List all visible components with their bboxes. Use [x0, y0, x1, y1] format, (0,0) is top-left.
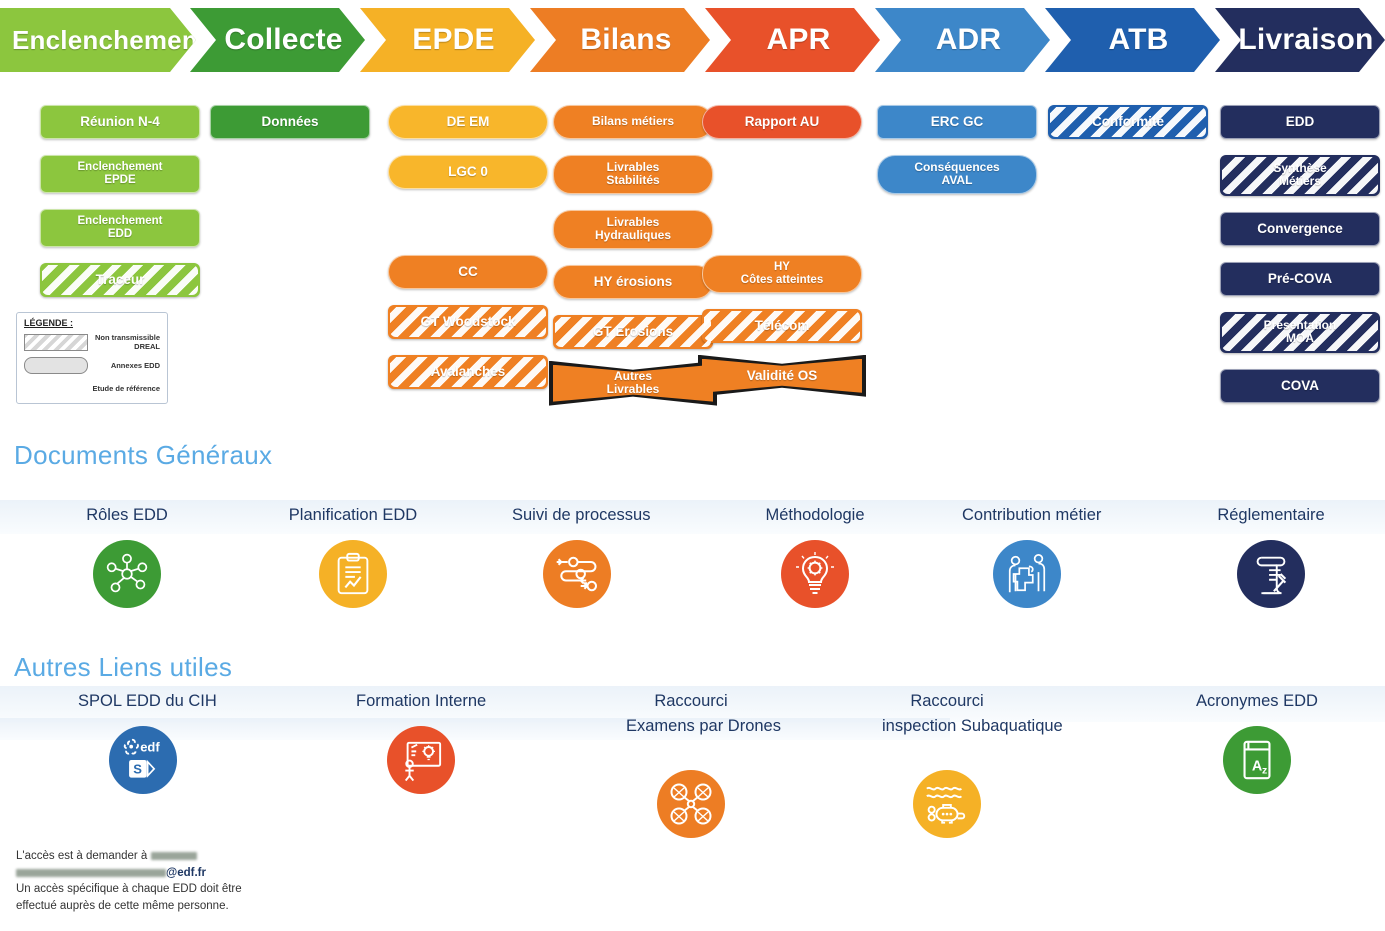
node-label: Rapport AU [745, 114, 820, 129]
tile-caption: SPOL EDD du CIH [78, 691, 208, 712]
node-label: PrésentationMOA [1264, 319, 1337, 346]
node-label: EnclenchementEPDE [78, 161, 163, 187]
section-heading-documents-generaux: Documents Généraux [14, 440, 272, 471]
node-label: Données [261, 114, 318, 129]
legend-row: Annexes EDD [24, 355, 160, 375]
redacted-name [151, 852, 197, 860]
node-bilans-m-tiers[interactable]: Bilans métiers [553, 105, 713, 139]
process-step-label: ADR [875, 23, 1050, 57]
scroll-gavel-icon[interactable] [1237, 540, 1305, 608]
node-column-bilans: Bilans métiersLivrablesStabilitésLivrabl… [553, 105, 713, 418]
tile-caption: Raccourci [626, 691, 756, 712]
node-de-em[interactable]: DE EM [388, 105, 548, 139]
legend-swatch-pill [24, 357, 88, 374]
documents-generaux-tile-r-glementaire[interactable]: Réglementaire [1206, 505, 1336, 608]
process-step-livraison[interactable]: Livraison [1215, 8, 1385, 72]
node-pr-cova[interactable]: Pré-COVA [1220, 262, 1380, 296]
process-step-enclenchement[interactable]: Enclenchement [0, 8, 196, 72]
autres-liens-tile-raccourci[interactable]: RaccourciExamens par Drones [626, 691, 756, 838]
documents-generaux-tile-suivi-de-processus[interactable]: Suivi de processus [512, 505, 642, 608]
node-label: AutresLivrables [607, 370, 660, 397]
process-step-label: Bilans [530, 23, 710, 57]
node-hy-c-tes-atteintes[interactable]: HYCôtes atteintes [702, 255, 862, 293]
node-concave-wrapper: AutresLivrables [553, 365, 713, 402]
node-label: HYCôtes atteintes [741, 261, 823, 287]
node-label: ConséquencesAVAL [914, 161, 999, 188]
node-label: EnclenchementEDD [78, 215, 163, 241]
tile-caption-line2: Examens par Drones [626, 716, 756, 737]
node-pr-sentation-moa[interactable]: PrésentationMOA [1220, 312, 1380, 353]
node-label: LivrablesHydrauliques [595, 216, 671, 243]
process-step-label: APR [705, 23, 880, 57]
node-synth-se-m-tiers[interactable]: SynthèseMétiers [1220, 155, 1380, 196]
node-label: Pré-COVA [1268, 271, 1332, 286]
node-enclenchement-epde[interactable]: EnclenchementEPDE [40, 155, 200, 193]
tile-caption: Réglementaire [1206, 505, 1336, 526]
submarine-icon[interactable] [913, 770, 981, 838]
node-traceur[interactable]: Traceur [40, 263, 200, 297]
process-step-label: ATB [1045, 23, 1220, 57]
legend-row: Non transmissible DREAL [24, 332, 160, 352]
drone-icon[interactable] [657, 770, 725, 838]
node-label: Avalanches [431, 364, 506, 379]
node-spacer [388, 205, 548, 239]
node-label: Bilans métiers [592, 115, 674, 128]
autres-liens-tile-spol-edd-du-cih[interactable]: SPOL EDD du CIHedfS [78, 691, 208, 794]
node-cova[interactable]: COVA [1220, 369, 1380, 403]
node-label: Validité OS [747, 368, 818, 383]
node-label: GT Erosions [593, 324, 673, 339]
node-label: Conformité [1092, 114, 1164, 129]
legend-swatch-hatch [24, 334, 88, 351]
legend-caption: Non transmissible DREAL [88, 333, 160, 351]
documents-generaux-tile-contribution-m-tier[interactable]: Contribution métier [962, 505, 1092, 608]
footer-line-1-text: L'accès est à demander à [16, 850, 151, 862]
tile-caption: Méthodologie [750, 505, 880, 526]
footer-email-domain: @edf.fr [166, 867, 206, 879]
node-concave-wrapper: Validité OS [702, 359, 862, 393]
node-spacer [702, 155, 862, 239]
documents-generaux-tile-planification-edd[interactable]: Planification EDD [288, 505, 418, 608]
node-label: LGC 0 [448, 164, 488, 179]
footer-line-2: @edf.fr [16, 865, 316, 882]
background-band-1 [0, 500, 1385, 534]
svg-text:S: S [133, 761, 142, 776]
node-label: Convergence [1257, 221, 1343, 236]
node-label: ERC GC [931, 114, 984, 129]
node-column-collecte: Données [210, 105, 370, 155]
node-column-adr: ERC GCConséquencesAVAL [877, 105, 1037, 210]
node-label: EDD [1286, 114, 1315, 129]
node-label: DE EM [447, 114, 490, 129]
svg-text:edf: edf [140, 739, 160, 754]
tile-caption: Acronymes EDD [1192, 691, 1322, 712]
node-label: Traceur [96, 272, 145, 287]
node-avalanches[interactable]: Avalanches [388, 355, 548, 389]
process-step-label: Livraison [1215, 23, 1385, 57]
process-step-apr[interactable]: APR [705, 8, 880, 72]
process-step-collecte[interactable]: Collecte [190, 8, 365, 72]
tile-caption: Contribution métier [962, 505, 1092, 526]
node-column-epde: DE EMLGC 0CCGT WoodstockAvalanches [388, 105, 548, 405]
autres-liens-tile-formation-interne[interactable]: Formation Interne [356, 691, 486, 794]
node-r-union-n-4[interactable]: Réunion N-4 [40, 105, 200, 139]
process-step-label: Enclenchement [0, 25, 207, 56]
node-cons-quences-aval[interactable]: ConséquencesAVAL [877, 155, 1037, 194]
node-column-apr: Rapport AUHYCôtes atteintesTélécomValidi… [702, 105, 862, 409]
autres-liens-tile-raccourci[interactable]: Raccourciinspection Subaquatique [882, 691, 1012, 838]
process-step-label: EPDE [360, 23, 535, 57]
documents-generaux-tile-r-les-edd[interactable]: Rôles EDD [62, 505, 192, 608]
node-rapport-au[interactable]: Rapport AU [702, 105, 862, 139]
process-step-epde[interactable]: EPDE [360, 8, 535, 72]
footer-line-4: effectué auprès de cette même personne. [16, 898, 316, 915]
section-heading-autres-liens: Autres Liens utiles [14, 652, 232, 683]
tile-caption: Formation Interne [356, 691, 486, 712]
node-enclenchement-edd[interactable]: EnclenchementEDD [40, 209, 200, 247]
node-label: COVA [1281, 378, 1319, 393]
node-label: CC [458, 264, 478, 279]
process-flow-icon[interactable] [543, 540, 611, 608]
node-livrables-stabilit-s[interactable]: LivrablesStabilités [553, 155, 713, 194]
node-erc-gc[interactable]: ERC GC [877, 105, 1037, 139]
network-people-icon[interactable] [93, 540, 161, 608]
node-convergence[interactable]: Convergence [1220, 212, 1380, 246]
node-label: GT Woodstock [420, 314, 515, 329]
lightbulb-gear-icon[interactable] [781, 540, 849, 608]
node-livrables-hydrauliques[interactable]: LivrablesHydrauliques [553, 210, 713, 249]
legend-row: Etude de référence [24, 378, 160, 398]
node-lgc-0[interactable]: LGC 0 [388, 155, 548, 189]
documents-generaux-tile-m-thodologie[interactable]: Méthodologie [750, 505, 880, 608]
clipboard-chart-icon[interactable] [319, 540, 387, 608]
legend-caption: Etude de référence [86, 384, 160, 393]
footer-line-1: L'accès est à demander à [16, 848, 316, 865]
node-gt-woodstock[interactable]: GT Woodstock [388, 305, 548, 339]
legend-caption: Annexes EDD [88, 361, 160, 370]
autres-liens-tile-acronymes-edd[interactable]: Acronymes EDDAz [1192, 691, 1322, 794]
footer-note: L'accès est à demander à @edf.fr Un accè… [16, 848, 316, 915]
node-label: SynthèseMétiers [1273, 162, 1326, 189]
legend-box: LÉGENDE : Non transmissible DREALAnnexes… [16, 312, 168, 404]
process-step-label: Collecte [190, 23, 365, 57]
footer-line-3: Un accès spécifique à chaque EDD doit êt… [16, 881, 316, 898]
process-step-adr[interactable]: ADR [875, 8, 1050, 72]
people-puzzle-icon[interactable] [993, 540, 1061, 608]
node-t-l-com[interactable]: Télécom [702, 309, 862, 343]
node-column-enclenchement: Réunion N-4EnclenchementEPDEEnclenchemen… [40, 105, 200, 313]
node-column-atb: Conformité [1048, 105, 1208, 155]
node-label: HY érosions [594, 274, 673, 289]
node-label: LivrablesStabilités [606, 161, 659, 188]
node-conformit[interactable]: Conformité [1048, 105, 1208, 139]
tile-caption-line2: inspection Subaquatique [882, 716, 1012, 737]
legend-swatch-concave [24, 381, 86, 396]
node-gt-erosions[interactable]: GT Erosions [553, 315, 713, 349]
process-step-bilans[interactable]: Bilans [530, 8, 710, 72]
node-cc[interactable]: CC [388, 255, 548, 289]
node-label: Réunion N-4 [80, 114, 160, 129]
tile-caption: Suivi de processus [512, 505, 642, 526]
training-board-icon[interactable] [387, 726, 455, 794]
node-hy-rosions[interactable]: HY érosions [553, 265, 713, 299]
svg-text:z: z [1262, 764, 1267, 776]
node-edd[interactable]: EDD [1220, 105, 1380, 139]
node-label: Télécom [755, 318, 810, 333]
redacted-email-local [16, 869, 166, 877]
tile-caption: Planification EDD [288, 505, 418, 526]
tile-caption: Raccourci [882, 691, 1012, 712]
node-donn-es[interactable]: Données [210, 105, 370, 139]
legend-title: LÉGENDE : [24, 318, 160, 328]
az-book-icon[interactable]: Az [1223, 726, 1291, 794]
edf-sharepoint-icon[interactable]: edfS [109, 726, 177, 794]
process-step-atb[interactable]: ATB [1045, 8, 1220, 72]
svg-text:A: A [1252, 758, 1262, 774]
tile-caption: Rôles EDD [62, 505, 192, 526]
node-column-livraison: EDDSynthèseMétiersConvergencePré-COVAPré… [1220, 105, 1380, 419]
process-banner: EnclenchementCollecteEPDEBilansAPRADRATB… [0, 8, 1385, 76]
